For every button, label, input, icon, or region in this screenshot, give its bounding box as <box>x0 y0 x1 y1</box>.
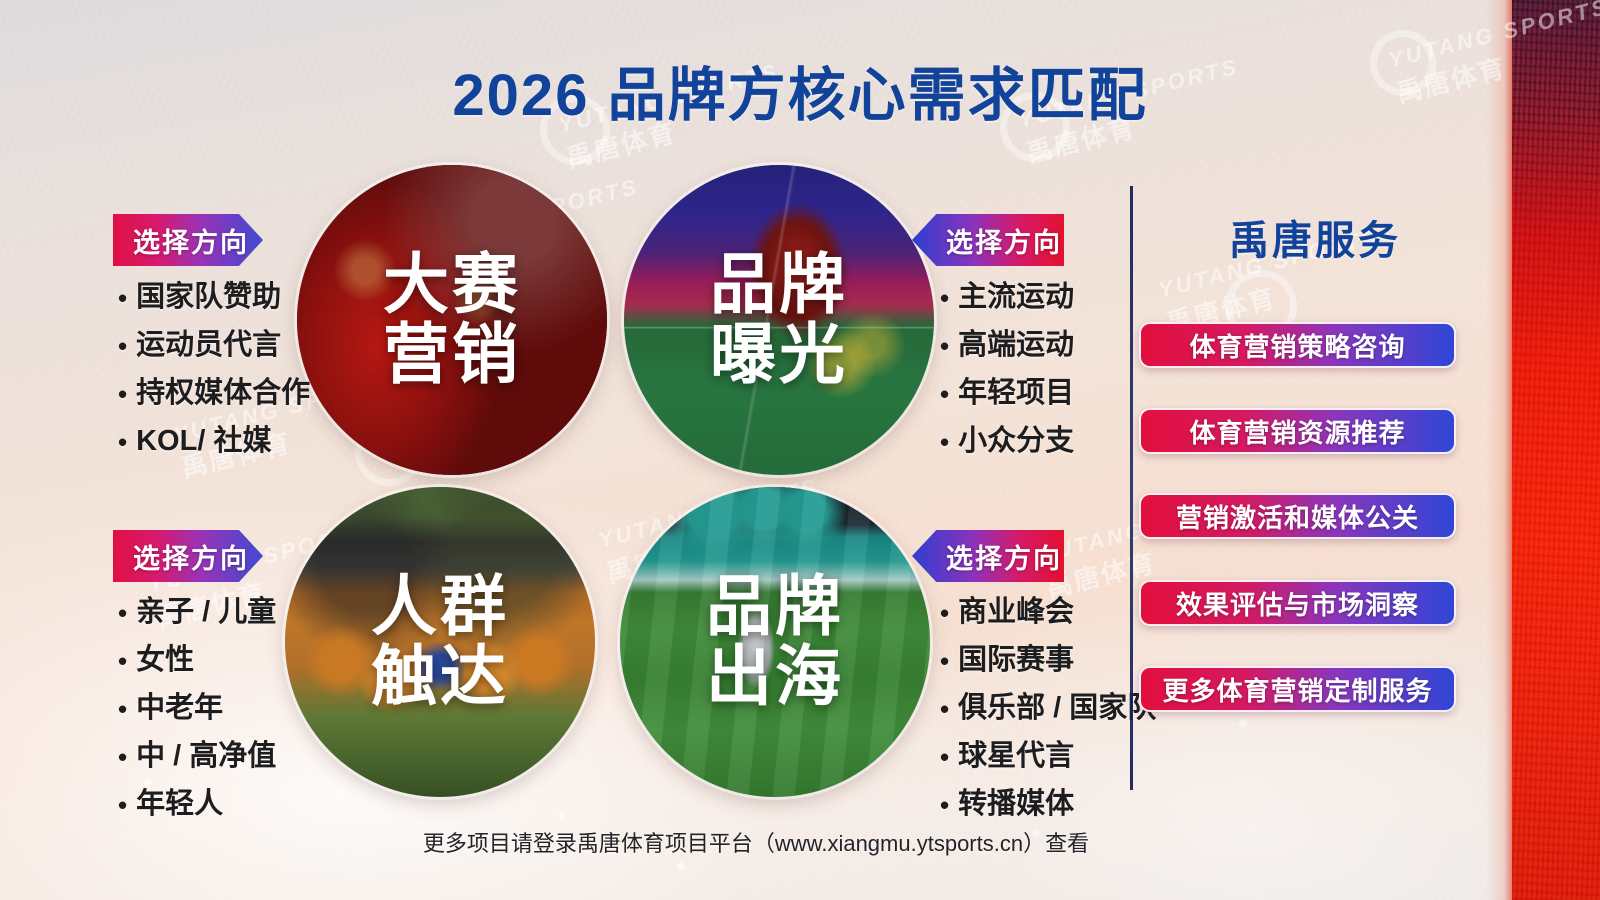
list-item-label: 女性 <box>136 646 194 675</box>
service-pill-label: 效果评估与市场洞察 <box>1176 585 1419 622</box>
list-item-label: 高端运动 <box>958 331 1074 360</box>
list-item: 中老年 <box>118 694 276 723</box>
quadrant-circle-brand-going-global[interactable]: 品牌 出海 <box>620 487 930 797</box>
circle-label: 大赛 营销 <box>383 250 521 390</box>
list-item-label: 球星代言 <box>958 742 1074 771</box>
service-pill-label: 体育营销资源推荐 <box>1189 413 1405 450</box>
list-item-label: 转播媒体 <box>958 790 1074 819</box>
footer-note: 更多项目请登录禹唐体育项目平台（www.xiangmu.ytsports.cn）… <box>0 826 1512 858</box>
service-pill-label: 营销激活和媒体公关 <box>1176 498 1419 535</box>
circle-label: 品牌 曝光 <box>710 250 848 390</box>
list-item: 女性 <box>118 646 276 675</box>
list-item: 俱乐部 / 国家队 <box>940 694 1156 723</box>
direction-banner-label: 选择方向 <box>946 221 1062 260</box>
service-pill-evaluation-and-insight[interactable]: 效果评估与市场洞察 <box>1139 580 1456 626</box>
list-item-label: 中老年 <box>136 694 223 723</box>
bullet-list-audience-reach: 亲子 / 儿童 女性 中老年 中 / 高净值 年轻人 <box>118 598 276 838</box>
circle-label-line: 营销 <box>383 320 521 390</box>
list-item: KOL/ 社媒 <box>118 427 310 456</box>
list-item-label: 中 / 高净值 <box>136 742 276 771</box>
list-item: 中 / 高净值 <box>118 742 276 771</box>
list-item: 运动员代言 <box>118 331 310 360</box>
circle-label-line: 品牌 <box>706 572 844 642</box>
list-item-label: 持权媒体合作 <box>136 379 310 408</box>
list-item: 持权媒体合作 <box>118 379 310 408</box>
list-item: 商业峰会 <box>940 598 1156 627</box>
circle-label: 品牌 出海 <box>706 572 844 712</box>
page-title: 2026 品牌方核心需求匹配 <box>0 48 1600 132</box>
direction-banner-label: 选择方向 <box>946 537 1062 576</box>
list-item-label: 年轻项目 <box>958 379 1074 408</box>
list-item-label: 亲子 / 儿童 <box>136 598 276 627</box>
vertical-divider <box>1130 186 1133 790</box>
services-heading: 禹唐服务 <box>1150 208 1480 266</box>
service-pill-activation-and-pr[interactable]: 营销激活和媒体公关 <box>1139 493 1456 539</box>
circle-label-line: 曝光 <box>710 320 848 390</box>
service-pill-strategy-consulting[interactable]: 体育营销策略咨询 <box>1139 322 1456 368</box>
list-item-label: 俱乐部 / 国家队 <box>958 694 1156 723</box>
list-item-label: 商业峰会 <box>958 598 1074 627</box>
list-item-label: 国家队赞助 <box>136 283 281 312</box>
list-item-label: KOL/ 社媒 <box>136 427 271 456</box>
quadrant-circle-audience-reach[interactable]: 人群 触达 <box>285 487 595 797</box>
circle-label-line: 出海 <box>706 642 844 712</box>
quadrant-circle-event-marketing[interactable]: 大赛 营销 <box>297 165 607 475</box>
direction-banner-brand-going-global[interactable]: 选择方向 <box>912 530 1064 582</box>
slide-canvas: YUTANG SPORTS 禹唐体育 YUTANG SPORTS 禹唐体育 YU… <box>0 0 1600 900</box>
list-item-label: 运动员代言 <box>136 331 281 360</box>
list-item: 主流运动 <box>940 283 1074 312</box>
direction-banner-label: 选择方向 <box>133 221 249 260</box>
list-item: 转播媒体 <box>940 790 1156 819</box>
direction-banner-event-marketing[interactable]: 选择方向 <box>113 214 263 266</box>
red-accent-strip <box>1512 0 1600 900</box>
list-item: 亲子 / 儿童 <box>118 598 276 627</box>
quadrant-circle-brand-exposure[interactable]: 品牌 曝光 <box>624 165 934 475</box>
list-item: 年轻人 <box>118 790 276 819</box>
direction-banner-brand-exposure[interactable]: 选择方向 <box>912 214 1064 266</box>
red-strip-fade <box>1486 0 1512 900</box>
circle-label-line: 触达 <box>371 642 509 712</box>
list-item: 国家队赞助 <box>118 283 310 312</box>
bullet-list-brand-exposure: 主流运动 高端运动 年轻项目 小众分支 <box>940 283 1074 475</box>
service-pill-custom-services[interactable]: 更多体育营销定制服务 <box>1139 666 1456 712</box>
list-item-label: 小众分支 <box>958 427 1074 456</box>
list-item-label: 年轻人 <box>136 790 223 819</box>
service-pill-label: 体育营销策略咨询 <box>1189 327 1405 364</box>
bullet-list-brand-going-global: 商业峰会 国际赛事 俱乐部 / 国家队 球星代言 转播媒体 <box>940 598 1156 838</box>
list-item-label: 国际赛事 <box>958 646 1074 675</box>
list-item: 小众分支 <box>940 427 1074 456</box>
list-item: 高端运动 <box>940 331 1074 360</box>
service-pill-label: 更多体育营销定制服务 <box>1162 671 1432 708</box>
list-item: 年轻项目 <box>940 379 1074 408</box>
list-item-label: 主流运动 <box>958 283 1074 312</box>
service-pill-resource-recommendation[interactable]: 体育营销资源推荐 <box>1139 408 1456 454</box>
list-item: 国际赛事 <box>940 646 1156 675</box>
direction-banner-audience-reach[interactable]: 选择方向 <box>113 530 263 582</box>
direction-banner-label: 选择方向 <box>133 537 249 576</box>
circle-label-line: 人群 <box>371 572 509 642</box>
circle-label: 人群 触达 <box>371 572 509 712</box>
bullet-list-event-marketing: 国家队赞助 运动员代言 持权媒体合作 KOL/ 社媒 <box>118 283 310 475</box>
circle-label-line: 大赛 <box>383 250 521 320</box>
list-item: 球星代言 <box>940 742 1156 771</box>
circle-label-line: 品牌 <box>710 250 848 320</box>
